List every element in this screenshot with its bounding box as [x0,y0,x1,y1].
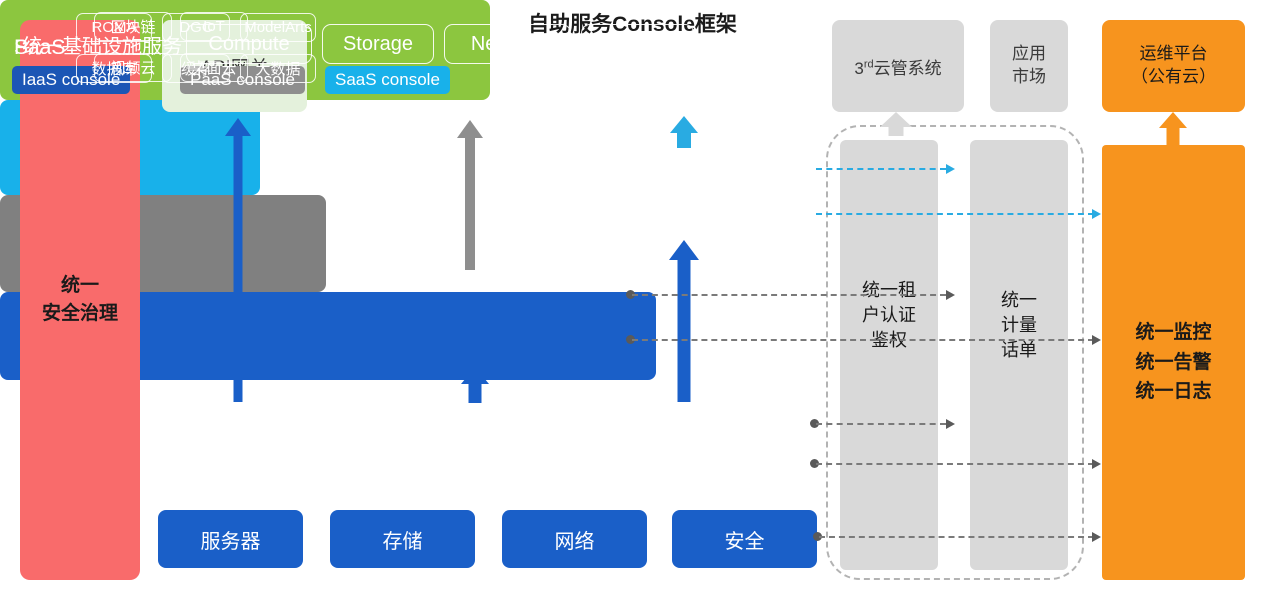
infra-chip-storage[interactable]: Storage [322,24,434,64]
ops-platform-panel[interactable]: 统一监控 统一告警 统一日志 [1102,145,1245,580]
arrowhead-infra-to-ops [1092,459,1101,469]
dashed-paas-to-tenant-auth [632,294,946,296]
app-market-box[interactable]: 应用 市场 [990,20,1068,112]
architecture-diagram: 统一 安全治理 API网关 自助服务Console框架 IaaS console… [0,0,1265,605]
hardware-box-network[interactable]: 网络 [502,510,647,568]
ops-platform-header-box[interactable]: 运维平台 （公有云） [1102,20,1245,112]
arrow-saas-to-console [670,116,698,148]
ops-header-line-1: 运维平台 [1131,43,1216,66]
tenant-auth-label: 统一租 户认证 鉴权 [840,278,938,354]
dashed-infra-to-ops [816,463,1094,465]
dashed-infra-to-tenant-auth [816,423,946,425]
ops-panel-line-3: 统一日志 [1135,377,1211,406]
tenant-auth-column[interactable] [840,140,938,570]
infra-chip-compute[interactable]: Compute [186,24,312,64]
hardware-box-server[interactable]: 服务器 [158,510,303,568]
governance-line-1: 统一 [42,272,118,300]
hardware-box-storage[interactable]: 存储 [330,510,475,568]
governance-line-2: 安全治理 [42,300,118,328]
arrowhead-paas-to-ops [1092,335,1101,345]
saas-console-button[interactable]: SaaS console [325,66,450,94]
arrowhead-paas-to-tenant-auth [946,290,955,300]
infrastructure-label: 统一基础设施服务 [22,30,182,59]
hardware-box-security[interactable]: 安全 [672,510,817,568]
arrow-infra-to-saas [669,240,699,402]
ops-panel-line-2: 统一告警 [1135,348,1211,377]
ops-header-line-2: （公有云） [1131,66,1216,89]
infra-chip-cce[interactable]: CCE [581,24,694,64]
metering-billing-label: 统一 计量 话单 [970,288,1068,364]
arrowhead-saas-to-metering [946,164,955,174]
third-party-label: 3rd云管系统 [854,54,941,79]
arrow-infra-to-paas [461,367,489,403]
arrow-ops-panel-to-header [1159,112,1187,146]
ops-panel-line-1: 统一监控 [1135,318,1211,347]
app-market-line-2: 市场 [1012,66,1046,89]
arrow-infra-to-api-gateway [225,118,251,402]
app-market-line-1: 应用 [1012,43,1046,66]
infra-chip-network[interactable]: Network [444,24,571,64]
third-party-cloud-management-box[interactable]: 3rd云管系统 [832,20,964,112]
arrowhead-hardware-to-ops [1092,532,1101,542]
arrowhead-infra-to-tenant-auth [946,419,955,429]
arrow-paas-to-console [457,120,483,270]
dashed-saas-to-ops [816,213,1094,215]
dashed-paas-to-ops [632,339,1094,341]
dashed-saas-to-metering [816,168,946,170]
arrowhead-saas-to-ops [1092,209,1101,219]
unified-security-governance-panel[interactable]: 统一 安全治理 [20,20,140,580]
arrow-shared-to-third-party [880,112,912,136]
dashed-hardware-to-ops [819,536,1094,538]
